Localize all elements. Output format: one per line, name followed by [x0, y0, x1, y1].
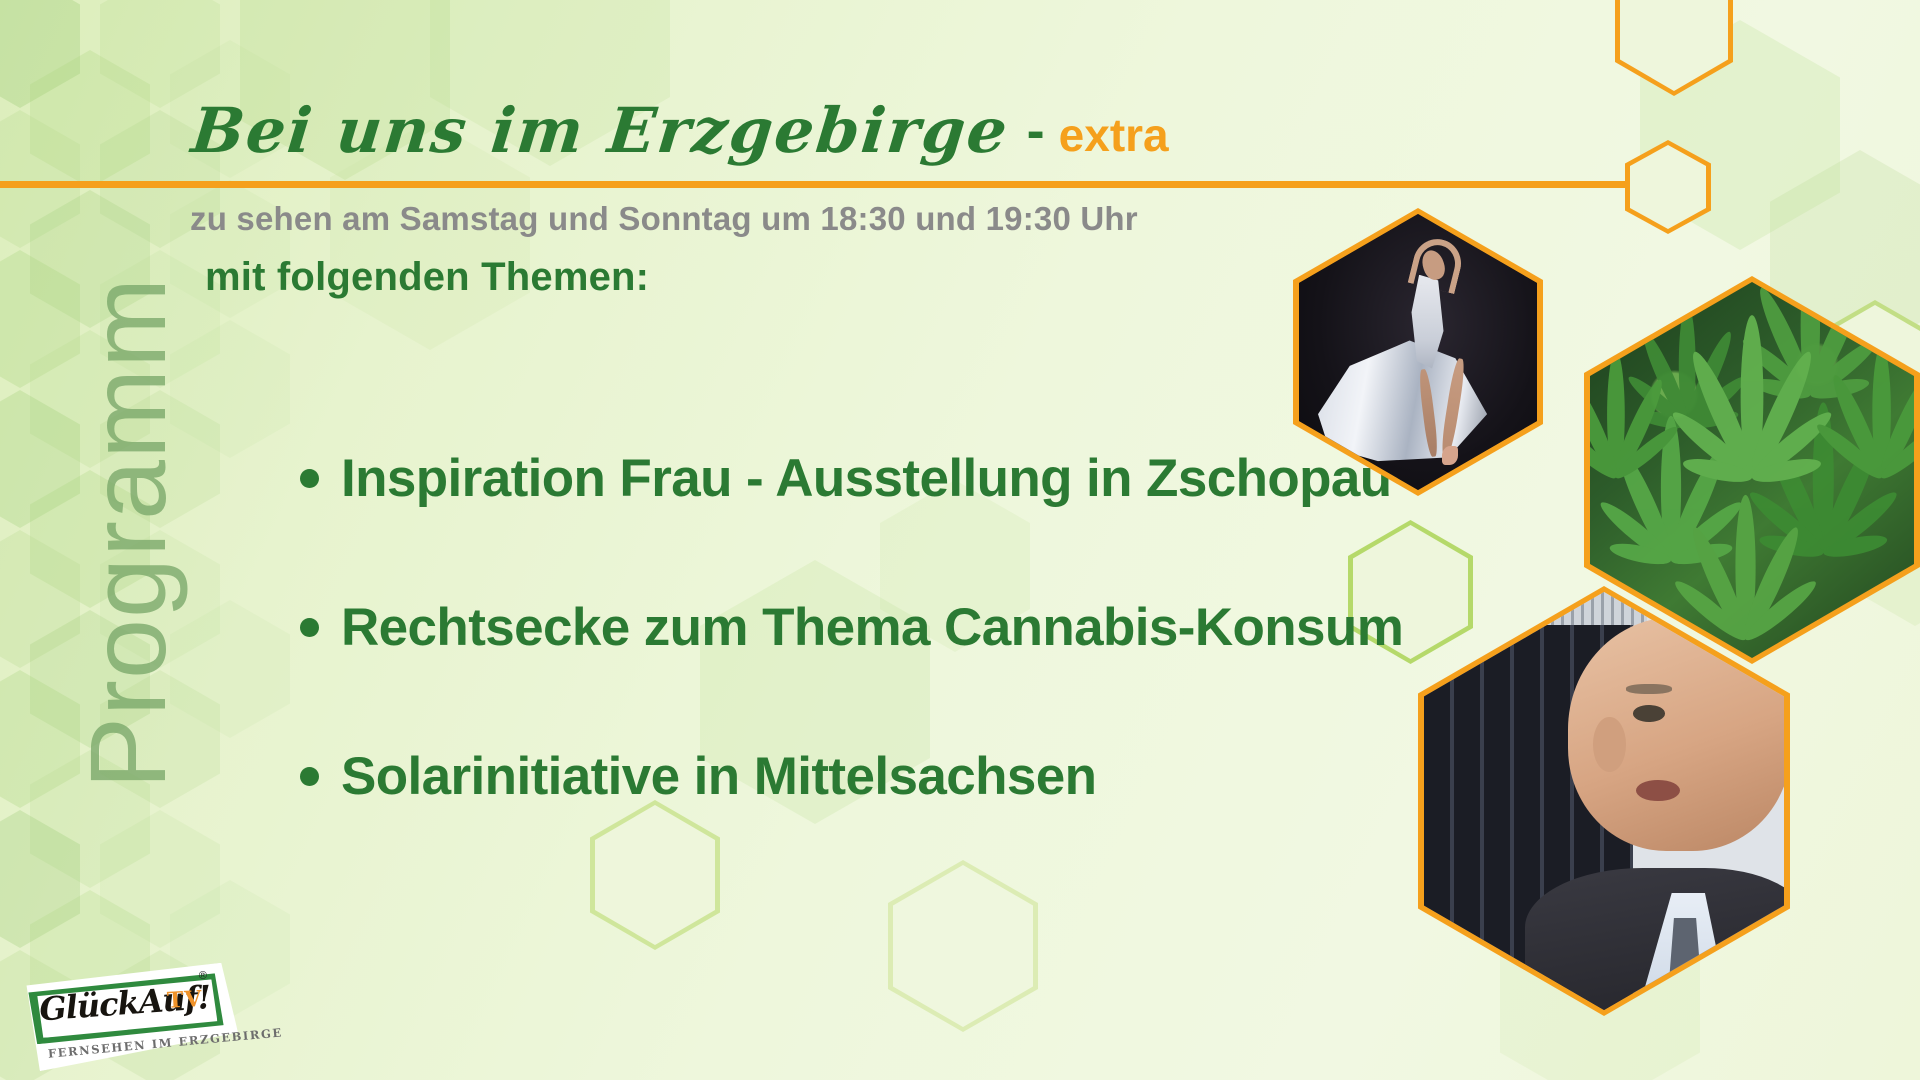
- list-item: Rechtsecke zum Thema Cannabis-Konsum: [300, 597, 1403, 658]
- topic-label: Rechtsecke zum Thema Cannabis-Konsum: [341, 597, 1403, 658]
- bullet-icon: [300, 618, 319, 637]
- slide-canvas: Programm Bei uns im Erzgebirge - extra z…: [0, 0, 1920, 1080]
- logo-registered-mark: ®: [198, 970, 207, 982]
- show-title-dash: -: [1009, 104, 1059, 162]
- topic-label: Solarinitiative in Mittelsachsen: [341, 746, 1096, 807]
- bullet-icon: [300, 767, 319, 786]
- show-title-extra: extra: [1059, 112, 1169, 162]
- show-title-main: Bei uns im Erzgebirge: [189, 100, 1012, 162]
- topics-intro: mit folgenden Themen:: [205, 255, 649, 300]
- channel-logo-glueckauf-tv: GlückAuf! TV ® FERNSEHEN IM ERZGEBIRGE: [19, 962, 239, 1072]
- broadcast-times-subtitle: zu sehen am Samstag und Sonntag um 18:30…: [190, 200, 1138, 238]
- show-title: Bei uns im Erzgebirge - extra: [192, 100, 1169, 162]
- topics-list: Inspiration Frau - Ausstellung in Zschop…: [300, 448, 1403, 807]
- logo-tv-text: TV: [166, 986, 203, 1014]
- bullet-icon: [300, 469, 319, 488]
- topic-label: Inspiration Frau - Ausstellung in Zschop…: [341, 448, 1392, 509]
- title-underline-rule: [0, 181, 1637, 188]
- list-item: Inspiration Frau - Ausstellung in Zschop…: [300, 448, 1403, 509]
- section-label-programm: Programm: [63, 173, 193, 893]
- list-item: Solarinitiative in Mittelsachsen: [300, 746, 1403, 807]
